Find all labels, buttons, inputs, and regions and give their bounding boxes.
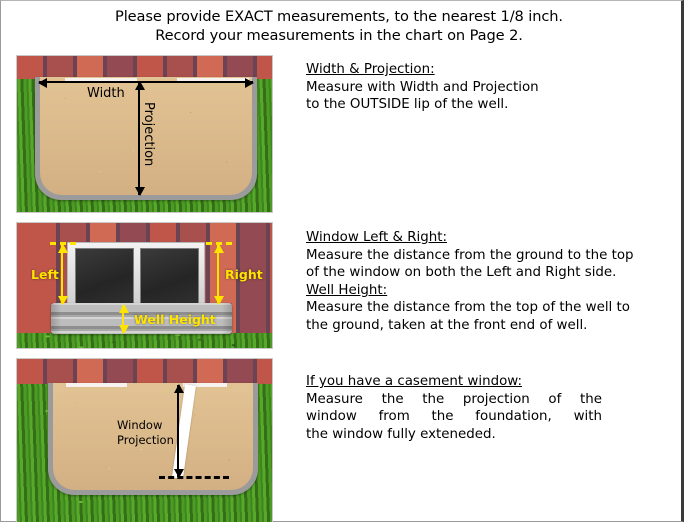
body-line: window from the foundation, with <box>306 408 602 426</box>
body-line: to the OUTSIDE lip of the well. <box>306 96 672 114</box>
left-label: Left <box>31 267 59 282</box>
projection-dimension-arrow <box>138 82 140 195</box>
left-dimension-arrow <box>61 245 63 304</box>
figure-window-front-view: Left Right Well Height <box>16 222 273 349</box>
width-label: Width <box>87 86 125 101</box>
window-projection-dimension-arrow <box>177 385 179 477</box>
page-header: Please provide EXACT measurements, to th… <box>1 7 677 45</box>
right-dimension-arrow <box>217 245 219 304</box>
body-line: of the window on both the Left and Right… <box>306 264 672 282</box>
well-lip-left <box>66 383 127 387</box>
body-line: Measure the distance from the ground to … <box>306 247 672 265</box>
heading-well-height: Well Height: <box>306 282 672 300</box>
header-line-1: Please provide EXACT measurements, to th… <box>1 7 677 26</box>
heading-width-projection: Width & Projection: <box>306 61 672 79</box>
text-section-width-projection: Width & Projection: Measure with Width a… <box>306 61 672 114</box>
brick-wall-texture <box>17 359 272 384</box>
body-line: the ground, taken at the front end of we… <box>306 317 672 335</box>
grass-strip <box>17 333 272 349</box>
body-line: Measure with Width and Projection <box>306 79 672 97</box>
figure-window-well-top-view: Width Projection <box>16 55 273 213</box>
casement-body: Measure the the projection of the window… <box>306 391 602 444</box>
brick-wall-texture <box>17 56 272 79</box>
window-projection-label-line1: Window <box>117 418 162 432</box>
heading-window-left-right: Window Left & Right: <box>306 229 672 247</box>
figure-casement-top-view: Window Projection <box>16 358 273 522</box>
window-pane-right <box>140 248 199 305</box>
well-height-label: Well Height <box>134 312 216 327</box>
body-line: the window fully exteneded. <box>306 426 602 444</box>
body-line: Measure the distance from the top of the… <box>306 299 672 317</box>
right-label: Right <box>225 267 263 282</box>
window-pane-left <box>75 248 134 305</box>
heading-casement: If you have a casement window: <box>306 373 602 391</box>
well-height-dimension-arrow <box>122 305 124 333</box>
projection-baseline-dash <box>159 476 229 479</box>
header-line-2: Record your measurements in the chart on… <box>1 26 677 45</box>
width-dimension-arrow <box>39 81 253 83</box>
text-section-window-left-right: Window Left & Right: Measure the distanc… <box>306 229 672 335</box>
projection-label: Projection <box>141 102 156 166</box>
text-section-casement: If you have a casement window: Measure t… <box>306 373 602 443</box>
body-line: Measure the the projection of the <box>306 391 602 409</box>
window-projection-label-line2: Projection <box>117 433 174 447</box>
document-page: Please provide EXACT measurements, to th… <box>0 0 684 522</box>
